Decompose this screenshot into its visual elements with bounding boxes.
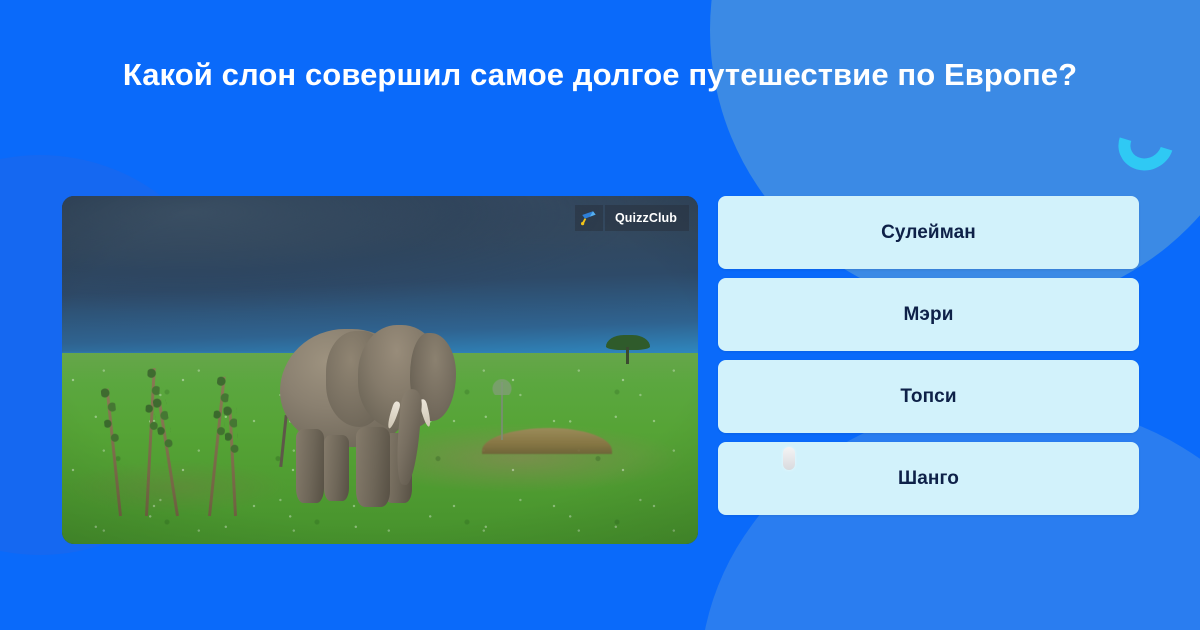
question-image: QuizzClub [62,196,698,544]
elephant-leg [356,427,390,507]
cursor-indicator [783,447,795,470]
watermark-brand: QuizzClub [605,205,689,231]
quiz-card: Какой слон совершил самое долгое путешес… [0,0,1200,630]
elephant-leg [324,435,349,501]
watermark: QuizzClub [575,205,689,231]
acacia-trunk [626,347,629,364]
answer-option-2[interactable]: Мэри [718,278,1139,351]
elephant-leg [296,429,324,503]
elephant-tail [279,415,287,467]
photo-acacia-tree [606,335,650,365]
photo-elephant [272,303,482,513]
answer-options: Сулейман Мэри Топси Шанго [718,196,1139,515]
answer-option-3[interactable]: Топси [718,360,1139,433]
answer-option-1[interactable]: Сулейман [718,196,1139,269]
graduation-cap-icon [575,205,603,231]
question-title: Какой слон совершил самое долгое путешес… [0,48,1200,101]
photo-bare-tree [501,382,503,440]
answer-option-4[interactable]: Шанго [718,442,1139,515]
